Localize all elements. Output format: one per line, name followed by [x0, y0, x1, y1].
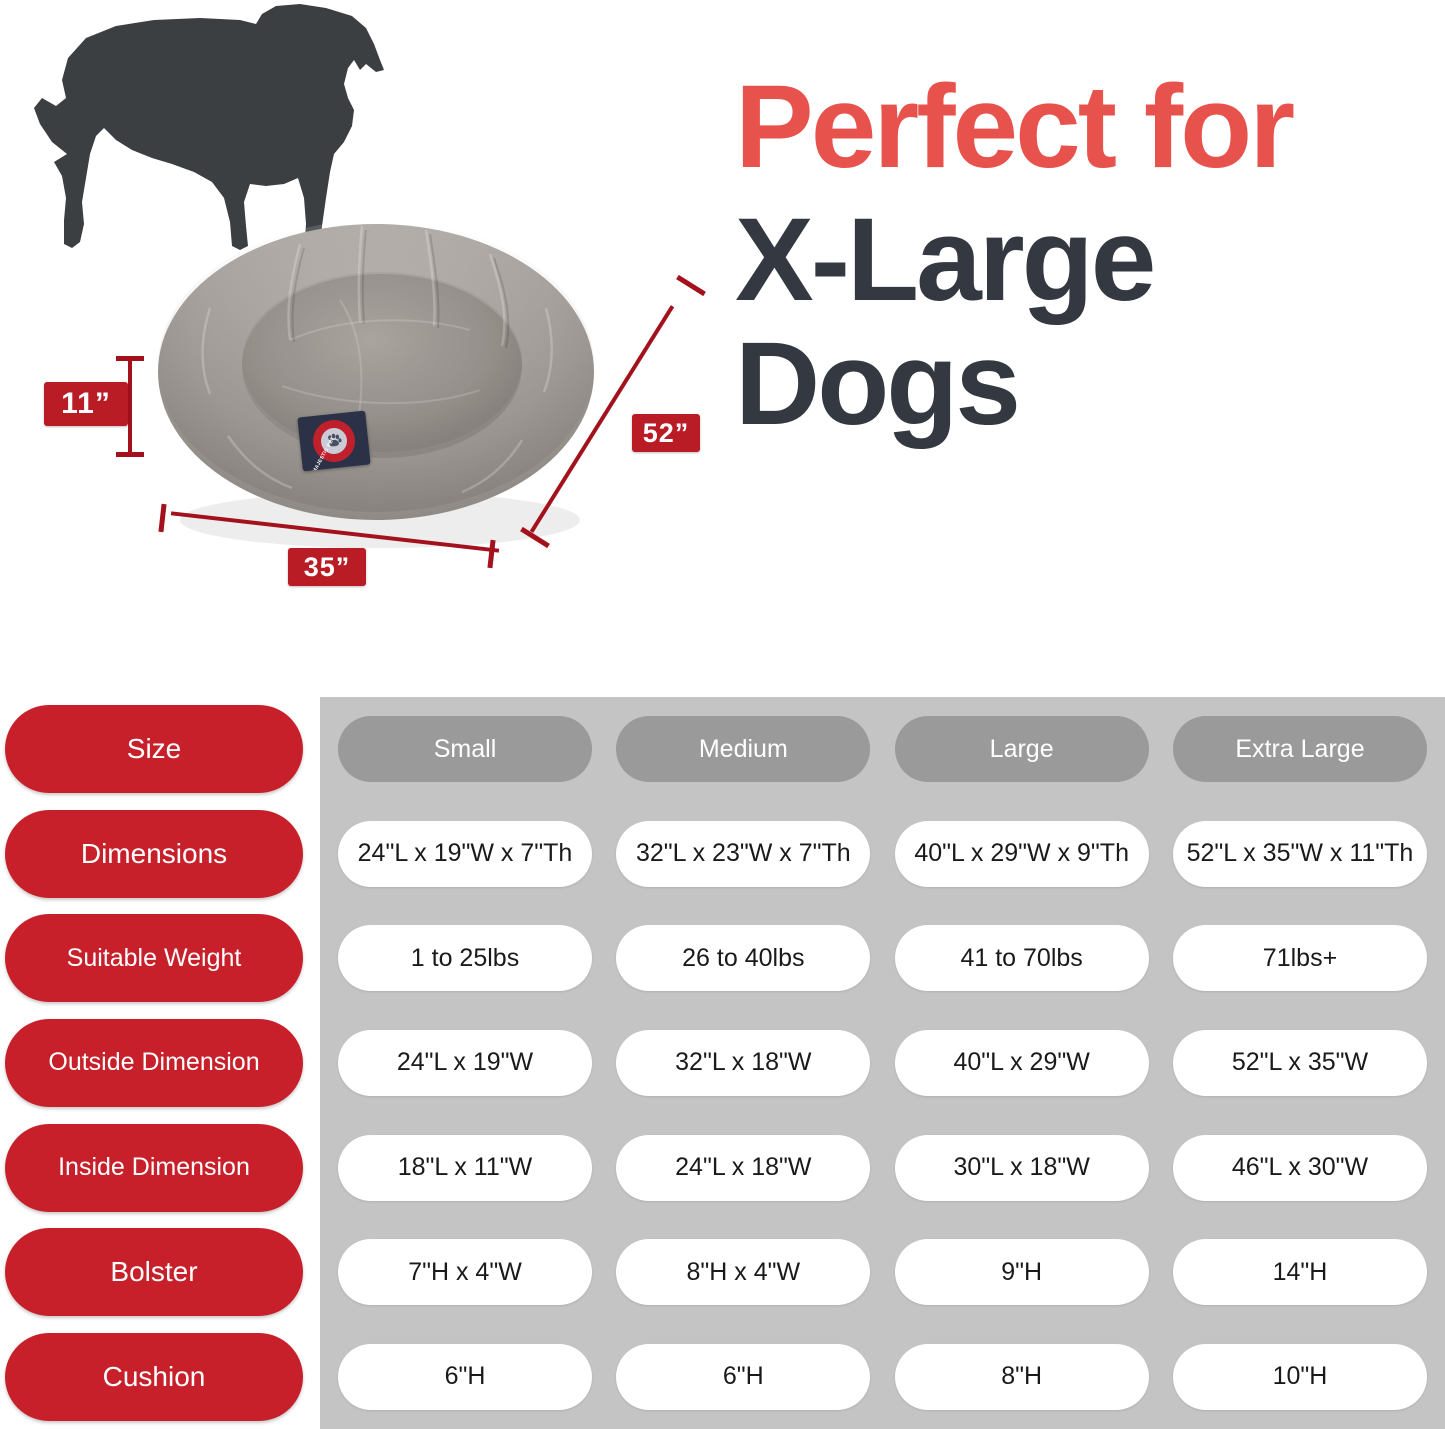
table-cell: 9"H — [895, 1239, 1149, 1305]
table-cell: 40"L x 29"W — [895, 1030, 1149, 1096]
row-cells: 7"H x 4"W8"H x 4"W9"H14"H — [320, 1228, 1445, 1316]
table-cell: 18"L x 11"W — [338, 1135, 592, 1201]
row-cells: 24"L x 19"W32"L x 18"W40"L x 29"W52"L x … — [320, 1019, 1445, 1107]
row-cells: 18"L x 11"W24"L x 18"W30"L x 18"W46"L x … — [320, 1124, 1445, 1212]
row-label-dimensions: Dimensions — [5, 810, 303, 898]
column-header-medium: Medium — [616, 716, 870, 782]
table-row: Suitable Weight1 to 25lbs26 to 40lbs41 t… — [0, 906, 1445, 1011]
table-cell: 71lbs+ — [1173, 925, 1427, 991]
height-dimension-label: 11” — [44, 382, 128, 426]
row-label-cushion: Cushion — [5, 1333, 303, 1421]
width-dimension-label: 35” — [288, 548, 366, 586]
height-dimension-line — [128, 356, 132, 456]
headline-line-1: Perfect for — [735, 70, 1435, 186]
table-cell: 24"L x 18"W — [616, 1135, 870, 1201]
hero-headline: Perfect for X-Large Dogs — [735, 70, 1435, 444]
majestic-pet-brand-tag: MAJESTIC PET — [297, 411, 370, 472]
table-cell: 52"L x 35"W x 11"Th — [1173, 821, 1427, 887]
table-cell: 1 to 25lbs — [338, 925, 592, 991]
table-cell: 8"H x 4"W — [616, 1239, 870, 1305]
row-cells: 1 to 25lbs26 to 40lbs41 to 70lbs71lbs+ — [320, 914, 1445, 1002]
table-row: Bolster7"H x 4"W8"H x 4"W9"H14"H — [0, 1220, 1445, 1325]
length-dimension-label: 52” — [632, 414, 700, 452]
row-label-inside-dimension: Inside Dimension — [5, 1124, 303, 1212]
row-cells: SmallMediumLargeExtra Large — [320, 705, 1445, 793]
table-cell: 10"H — [1173, 1344, 1427, 1410]
table-cell: 52"L x 35"W — [1173, 1030, 1427, 1096]
table-cell: 40"L x 29"W x 9"Th — [895, 821, 1149, 887]
column-header-large: Large — [895, 716, 1149, 782]
row-label-bolster: Bolster — [5, 1228, 303, 1316]
table-cell: 32"L x 23"W x 7"Th — [616, 821, 870, 887]
table-cell: 26 to 40lbs — [616, 925, 870, 991]
row-label-suitable-weight: Suitable Weight — [5, 914, 303, 1002]
column-header-small: Small — [338, 716, 592, 782]
table-row: Cushion6"H6"H8"H10"H — [0, 1324, 1445, 1429]
table-cell: 6"H — [338, 1344, 592, 1410]
row-cells: 24"L x 19"W x 7"Th32"L x 23"W x 7"Th40"L… — [320, 810, 1445, 898]
column-header-extra-large: Extra Large — [1173, 716, 1427, 782]
hero-section: MAJESTIC PET 11” 52” 35” Perfect for X-L… — [0, 0, 1445, 697]
headline-line-2: X-Large — [735, 200, 1435, 320]
table-cell: 41 to 70lbs — [895, 925, 1149, 991]
size-chart-table: SizeSmallMediumLargeExtra LargeDimension… — [0, 697, 1445, 1429]
paw-print-icon: MAJESTIC PET — [311, 418, 357, 464]
table-row: Dimensions24"L x 19"W x 7"Th32"L x 23"W … — [0, 802, 1445, 907]
table-cell: 32"L x 18"W — [616, 1030, 870, 1096]
height-dimension-cap-bottom — [116, 452, 144, 457]
table-cell: 14"H — [1173, 1239, 1427, 1305]
table-cell: 46"L x 30"W — [1173, 1135, 1427, 1201]
dog-bed-product-image — [150, 190, 602, 562]
row-label-size: Size — [5, 705, 303, 793]
headline-line-3: Dogs — [735, 324, 1435, 444]
table-cell: 7"H x 4"W — [338, 1239, 592, 1305]
row-label-outside-dimension: Outside Dimension — [5, 1019, 303, 1107]
length-dimension-cap-top — [676, 275, 706, 296]
table-cell: 8"H — [895, 1344, 1149, 1410]
table-cell: 24"L x 19"W x 7"Th — [338, 821, 592, 887]
table-cell: 6"H — [616, 1344, 870, 1410]
table-cell: 24"L x 19"W — [338, 1030, 592, 1096]
table-cell: 30"L x 18"W — [895, 1135, 1149, 1201]
table-row: Inside Dimension18"L x 11"W24"L x 18"W30… — [0, 1115, 1445, 1220]
table-row: SizeSmallMediumLargeExtra Large — [0, 697, 1445, 802]
row-cells: 6"H6"H8"H10"H — [320, 1333, 1445, 1421]
table-row: Outside Dimension24"L x 19"W32"L x 18"W4… — [0, 1011, 1445, 1116]
